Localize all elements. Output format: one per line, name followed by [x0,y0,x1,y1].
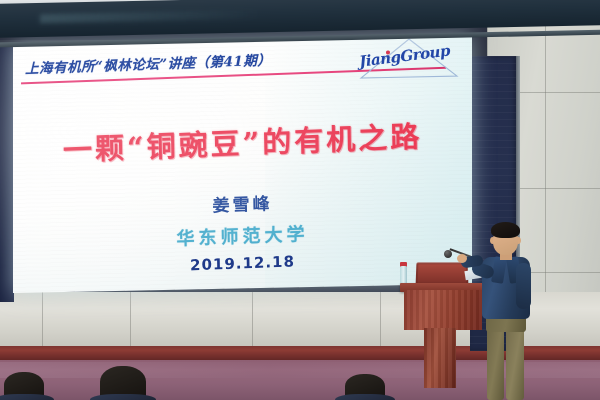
leg-right [506,328,524,400]
leg-left [487,328,504,400]
screen-scanlines [13,34,472,293]
left-dark-strip [0,44,14,302]
microphone-head [444,250,452,258]
projection-screen: 上海有机所“枫林论坛”讲座（第41期） JiangGroup 一颗“铜豌豆”的有… [13,34,472,293]
arm-right [516,263,531,309]
wall-seam [130,292,131,348]
lecture-hall-screenshot: 上海有机所“枫林论坛”讲座（第41期） JiangGroup 一颗“铜豌豆”的有… [0,0,600,400]
hair [491,222,520,238]
podium-column [424,328,456,388]
speaker-person [470,222,546,400]
wall-seam [252,292,253,348]
audience-shoulders [90,394,156,400]
wall-seam [380,292,381,348]
audience-shoulders [0,394,54,400]
audience-shoulders [335,394,395,400]
laptop-screen [418,264,467,284]
hand-left [457,254,467,263]
wall-seam [42,292,43,348]
